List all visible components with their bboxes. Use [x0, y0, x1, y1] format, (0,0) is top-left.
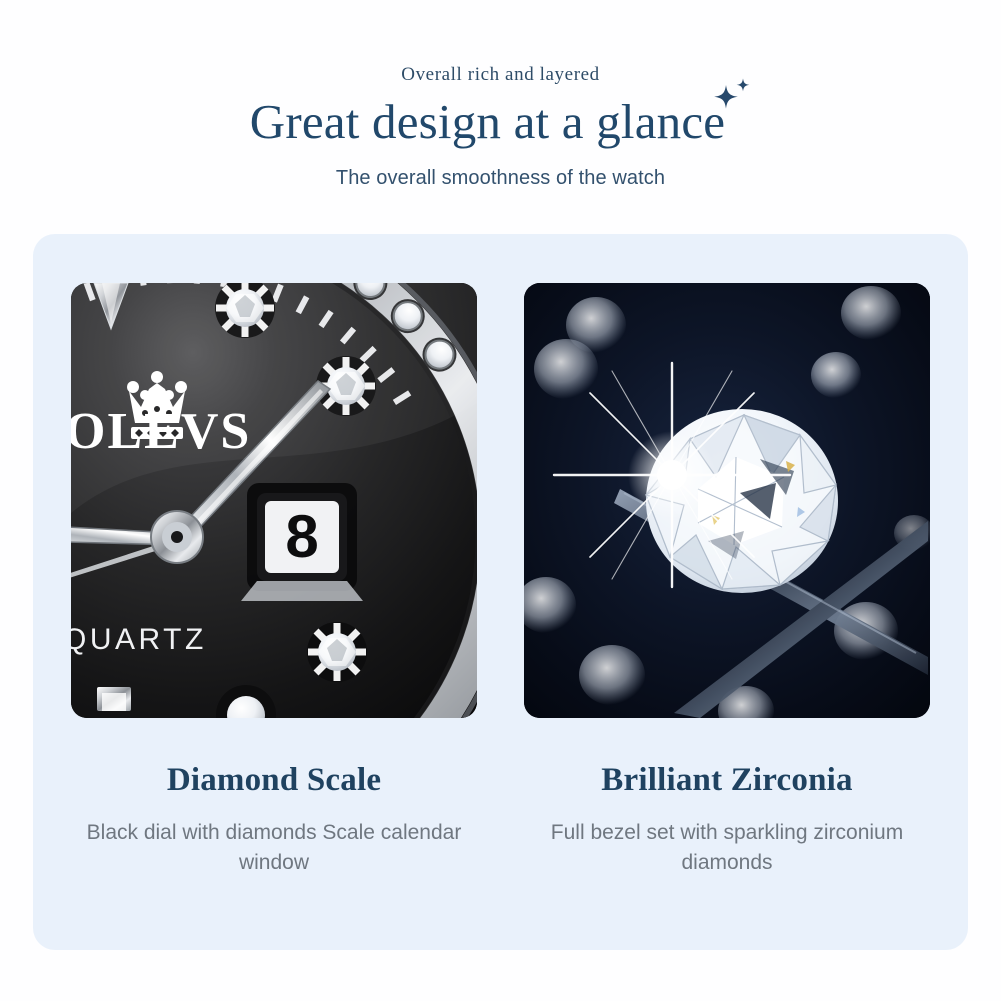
card-title-diamond-scale: Diamond Scale	[167, 762, 381, 800]
watch-dial-illustration: OLEVS QUARTZ 8	[71, 283, 477, 718]
feature-card-brilliant-zirconia[interactable]: Brilliant Zirconia Full bezel set with s…	[524, 283, 930, 950]
card-description-diamond-scale: Black dial with diamonds Scale calendar …	[84, 818, 464, 878]
header-subtitle: The overall smoothness of the watch	[0, 165, 1001, 191]
card-description-brilliant-zirconia: Full bezel set with sparkling zirconium …	[537, 818, 917, 878]
diamond-illustration	[524, 283, 930, 718]
dial-movement-text: QUARTZ	[71, 623, 207, 656]
dial-date-value: 8	[285, 503, 318, 570]
feature-card-list: OLEVS QUARTZ 8	[33, 234, 968, 950]
watch-dial-photo[interactable]: OLEVS QUARTZ 8	[71, 283, 477, 718]
page-header: Overall rich and layered Great design at…	[0, 0, 1001, 191]
header-eyebrow: Overall rich and layered	[0, 64, 1001, 87]
loose-diamond-photo[interactable]	[524, 283, 930, 718]
feature-panel: OLEVS QUARTZ 8	[33, 234, 968, 950]
page-title: Great design at a glance	[250, 93, 726, 151]
feature-card-diamond-scale[interactable]: OLEVS QUARTZ 8	[71, 283, 477, 950]
page-root: Overall rich and layered Great design at…	[0, 0, 1001, 1001]
card-title-brilliant-zirconia: Brilliant Zirconia	[601, 762, 852, 800]
dial-date-window: 8	[241, 483, 363, 601]
page-title-wrap: Great design at a glance	[250, 93, 752, 151]
